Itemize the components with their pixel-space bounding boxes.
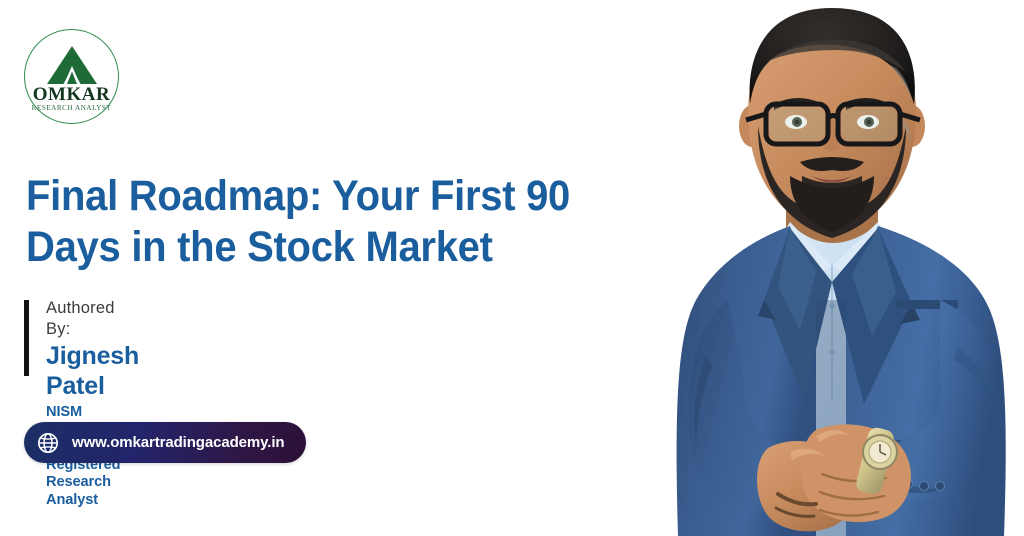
authored-by-label: Authored By: — [46, 298, 139, 339]
promo-banner: OMKAR RESEARCH ANALYST Final Roadmap: Yo… — [0, 0, 1024, 536]
page-title: Final Roadmap: Your First 90 Days in the… — [26, 171, 640, 272]
logo-tagline: RESEARCH ANALYST — [24, 105, 119, 112]
author-portrait-photo — [640, 0, 1024, 536]
author-name: Jignesh Patel — [46, 342, 139, 401]
logo-wordmark: OMKAR — [24, 85, 119, 104]
brand-logo[interactable]: OMKAR RESEARCH ANALYST — [24, 29, 119, 124]
website-badge[interactable]: www.omkartradingacademy.in — [24, 422, 306, 463]
mountain-peak-icon — [47, 46, 97, 84]
portrait-illustration — [640, 0, 1024, 536]
author-accent-bar — [24, 300, 29, 376]
globe-icon — [37, 432, 59, 454]
website-url-text: www.omkartradingacademy.in — [72, 434, 284, 451]
